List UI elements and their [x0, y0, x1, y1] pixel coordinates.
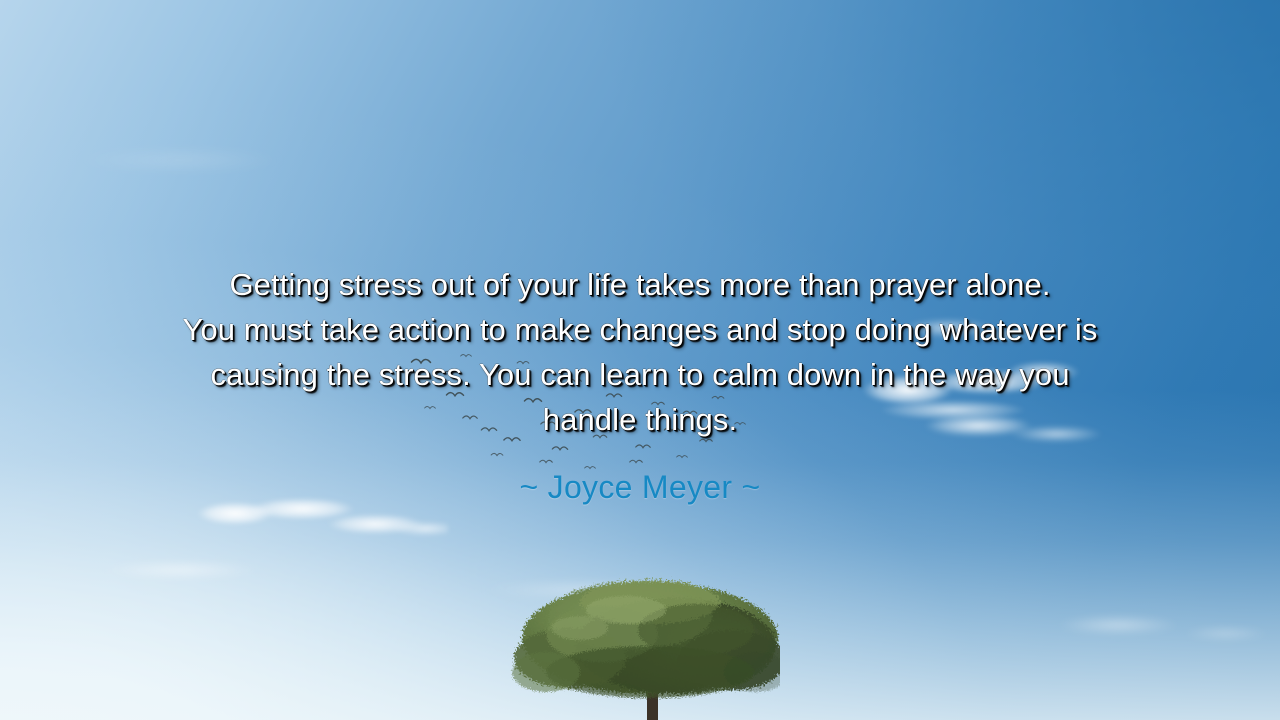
bird-icon [630, 460, 643, 462]
quote-line-4: handle things. [0, 397, 1280, 442]
bird-icon [552, 447, 567, 450]
tree-icon [510, 576, 780, 720]
attribution-block: ~ Joyce Meyer ~ [0, 466, 1280, 508]
quote-line-1: Getting stress out of your life takes mo… [0, 262, 1280, 307]
bird-icon [540, 460, 553, 462]
quote-wallpaper: Getting stress out of your life takes mo… [0, 0, 1280, 720]
quote-line-2: You must take action to make changes and… [0, 307, 1280, 352]
quote-line-3: causing the stress. You can learn to cal… [0, 352, 1280, 397]
attribution-author: ~ Joyce Meyer ~ [519, 469, 760, 505]
bird-icon [636, 445, 650, 448]
bird-icon [677, 456, 688, 458]
bird-icon [491, 453, 503, 455]
quote-text-block: Getting stress out of your life takes mo… [0, 262, 1280, 442]
